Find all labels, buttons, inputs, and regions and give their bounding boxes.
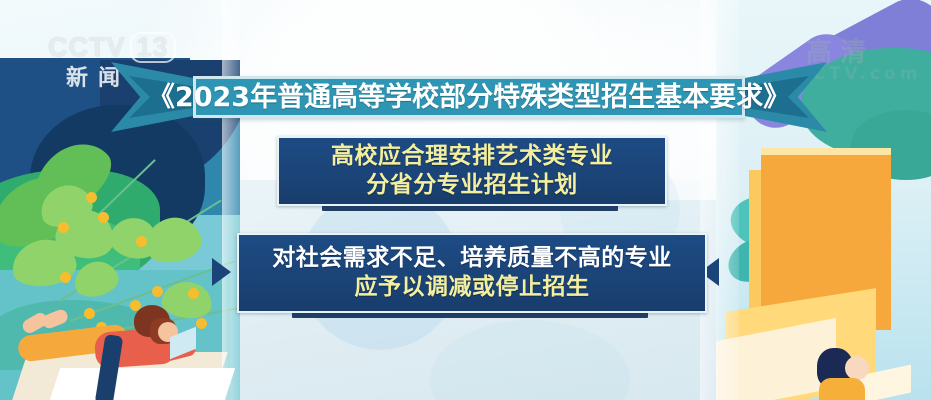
content-box-2: 对社会需求不足、培养质量不高的专业 应予以调减或停止招生	[237, 233, 707, 313]
box-2-line-2: 应予以调减或停止招生	[355, 273, 590, 302]
box-body: 高校应合理安排艺术类专业 分省分专业招生计划	[277, 136, 667, 206]
box-1-line-2: 分省分专业招生计划	[366, 171, 578, 200]
triangle-right-icon	[212, 258, 231, 286]
cctv-logo-text: CCTV13	[48, 32, 194, 63]
cctv-channel-number: 13	[130, 32, 176, 63]
content-box-1: 高校应合理安排艺术类专业 分省分专业招生计划	[277, 136, 667, 206]
box-2-line-1: 对社会需求不足、培养质量不高的专业	[272, 244, 672, 273]
decorative-bubble	[430, 320, 630, 400]
cctv-wordmark: CCTV	[48, 32, 126, 62]
left-divider-panel	[222, 0, 240, 400]
title-box: 《2023年普通高等学校部分特殊类型招生基本要求》	[193, 76, 745, 118]
title-banner: 《2023年普通高等学校部分特殊类型招生基本要求》	[193, 76, 745, 118]
right-divider-panel	[700, 0, 718, 400]
broadcast-graphic: CCTV13 新闻 高清 CCTV.com 《2023年普通高等学校部分特殊类型…	[0, 0, 931, 400]
hd-label: 高清	[806, 40, 874, 66]
box-body: 对社会需求不足、培养质量不高的专业 应予以调减或停止招生	[237, 233, 707, 313]
box-1-line-1: 高校应合理安排艺术类专业	[331, 142, 613, 171]
page-title: 《2023年普通高等学校部分特殊类型招生基本要求》	[148, 84, 790, 111]
